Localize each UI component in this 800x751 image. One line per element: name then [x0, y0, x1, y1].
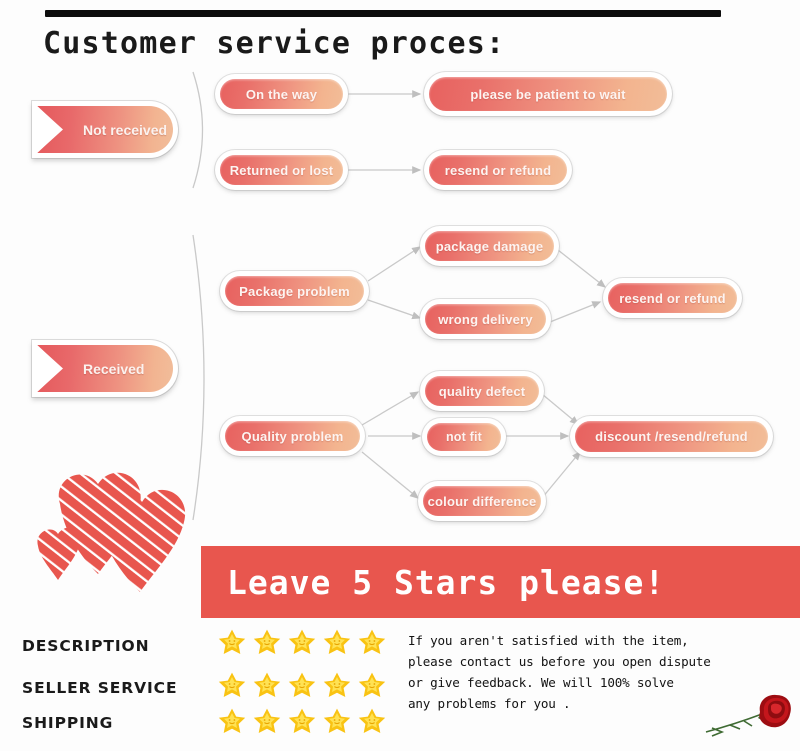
node-fill: On the way — [220, 79, 343, 109]
star-icon — [288, 628, 316, 656]
node-package-problem[interactable]: Package problem — [220, 271, 369, 311]
node-fill: Package problem — [225, 276, 364, 306]
node-label: discount /resend/refund — [595, 429, 748, 444]
star-icon — [323, 707, 351, 735]
promise-line-2: please contact us before you open disput… — [408, 651, 738, 672]
star-icon — [218, 671, 246, 699]
node-fill: resend or refund — [429, 155, 567, 185]
star-icon — [288, 707, 316, 735]
rating-label-seller-service: SELLER SERVICE — [22, 679, 177, 697]
node-fill: not fit — [427, 423, 501, 451]
star-icon — [358, 628, 386, 656]
ribbon-not-received[interactable]: Not received — [32, 101, 178, 158]
star-rating-description[interactable] — [218, 628, 386, 656]
page-title: Customer service proces: — [43, 26, 505, 61]
star-icon — [288, 671, 316, 699]
star-icon — [253, 628, 281, 656]
node-label: colour difference — [428, 494, 537, 509]
top-divider-rule — [45, 10, 721, 17]
node-on-the-way[interactable]: On the way — [215, 74, 348, 114]
node-label: Package problem — [239, 284, 350, 299]
star-icon — [218, 628, 246, 656]
red-carnation-icon — [700, 692, 796, 748]
rating-label-description: DESCRIPTION — [22, 637, 149, 655]
leave-5-stars-banner: Leave 5 Stars please! — [201, 546, 800, 618]
star-rating-seller-service[interactable] — [218, 671, 386, 699]
node-please-be-patient-to-wait[interactable]: please be patient to wait — [424, 72, 672, 116]
star-icon — [218, 707, 246, 735]
node-returned-or-lost[interactable]: Returned or lost — [215, 150, 348, 190]
node-fill: package damage — [425, 231, 554, 261]
star-icon — [253, 707, 281, 735]
node-wrong-delivery[interactable]: wrong delivery — [420, 299, 551, 339]
node-fill: Returned or lost — [220, 155, 343, 185]
star-rating-shipping[interactable] — [218, 707, 386, 735]
banner-text: Leave 5 Stars please! — [227, 563, 665, 602]
node-fill: quality defect — [425, 376, 539, 406]
node-label: Quality problem — [242, 429, 344, 444]
node-label: wrong delivery — [438, 312, 533, 327]
node-label: quality defect — [439, 384, 526, 399]
node-colour-difference[interactable]: colour difference — [418, 481, 546, 521]
promise-line-4: any problems for you . — [408, 693, 738, 714]
node-label: not fit — [446, 430, 482, 444]
node-label: please be patient to wait — [470, 87, 625, 102]
node-fill: colour difference — [423, 486, 541, 516]
node-quality-problem[interactable]: Quality problem — [220, 416, 365, 456]
ribbon-label: Not received — [83, 122, 167, 138]
star-icon — [323, 671, 351, 699]
node-package-damage[interactable]: package damage — [420, 226, 559, 266]
node-quality-defect[interactable]: quality defect — [420, 371, 544, 411]
node-resend-or-refund-1[interactable]: resend or refund — [424, 150, 572, 190]
star-icon — [253, 671, 281, 699]
node-label: resend or refund — [619, 291, 726, 306]
ribbon-label: Received — [83, 361, 144, 377]
node-fill: please be patient to wait — [429, 77, 667, 111]
scribbled-hearts-icon — [28, 462, 198, 612]
node-label: Returned or lost — [230, 163, 334, 178]
infographic-page: Customer service proces: — [0, 0, 800, 751]
star-icon — [323, 628, 351, 656]
star-icon — [358, 671, 386, 699]
node-fill: wrong delivery — [425, 304, 546, 334]
star-icon — [358, 707, 386, 735]
node-label: resend or refund — [445, 163, 552, 178]
node-discount-resend-refund[interactable]: discount /resend/refund — [570, 416, 773, 457]
promise-line-1: If you aren't satisfied with the item, — [408, 630, 738, 651]
node-fill: resend or refund — [608, 283, 737, 313]
node-fill: Quality problem — [225, 421, 360, 451]
node-resend-or-refund-2[interactable]: resend or refund — [603, 278, 742, 318]
ribbon-received[interactable]: Received — [32, 340, 178, 397]
node-label: package damage — [436, 239, 544, 254]
rating-label-shipping: SHIPPING — [22, 714, 113, 732]
service-promise-text: If you aren't satisfied with the item, p… — [408, 630, 738, 714]
node-fill: discount /resend/refund — [575, 421, 768, 452]
promise-line-3: or give feedback. We will 100% solve — [408, 672, 738, 693]
node-not-fit[interactable]: not fit — [422, 418, 506, 456]
node-label: On the way — [246, 87, 317, 102]
